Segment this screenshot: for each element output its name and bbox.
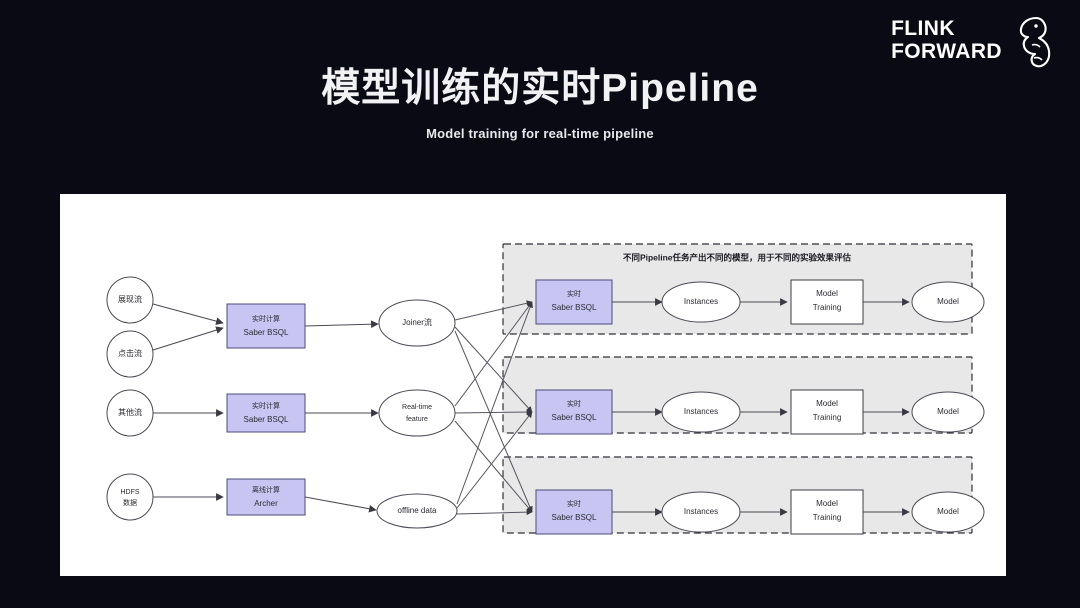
pipeline-1-saber-line1: 实时 [567, 289, 581, 298]
logo-wordmark: FLINK FORWARD [891, 18, 1002, 63]
squirrel-icon [1006, 14, 1052, 68]
pipeline-2-saber-line2: Saber BSQL [552, 413, 597, 422]
pipeline-1-model-label: Model [937, 297, 959, 306]
logo-line-1: FLINK [891, 18, 1002, 41]
pipeline-2-saber-line1: 实时 [567, 399, 581, 408]
compute-node-archer[interactable] [227, 479, 305, 515]
pipeline-3-saber-box[interactable] [536, 490, 612, 534]
stream-label-rtfeature-line2: feature [406, 416, 428, 423]
slide-root: FLINK FORWARD 模型训练的实时Pipeline Model trai… [0, 0, 1080, 608]
compute-label-saber-1-line1: 实时计算 [252, 314, 280, 323]
compute-node-saber-1[interactable] [227, 304, 305, 348]
pipeline-3-training-line1: Model [816, 499, 838, 508]
compute-label-archer-line2: Archer [254, 499, 278, 508]
pipeline-2-instances-label: Instances [684, 407, 718, 416]
compute-label-saber-2-line2: Saber BSQL [244, 415, 289, 424]
source-node-hdfs[interactable] [107, 474, 153, 520]
source-label-impression: 展现流 [118, 294, 142, 304]
pipeline-diagram: 不同Pipeline任务产出不同的模型，用于不同的实验效果评估 展现流 点击流 [60, 194, 1006, 576]
title-block: 模型训练的实时Pipeline Model training for real-… [0, 66, 1080, 141]
pipeline-2-training-line2: Training [813, 413, 842, 422]
pipeline-1-training-box[interactable] [791, 280, 863, 324]
compute-label-saber-1-line2: Saber BSQL [244, 328, 289, 337]
pipeline-3-training-line2: Training [813, 513, 842, 522]
pipeline-2-training-line1: Model [816, 399, 838, 408]
stream-label-offline-data: offline data [398, 506, 438, 515]
group-header-label: 不同Pipeline任务产出不同的模型，用于不同的实验效果评估 [623, 252, 852, 262]
compute-label-saber-2-line1: 实时计算 [252, 401, 280, 410]
pipeline-2-training-box[interactable] [791, 390, 863, 434]
source-label-hdfs-line1: HDFS [120, 489, 139, 496]
source-label-click: 点击流 [118, 348, 142, 358]
pipeline-1-saber-box[interactable] [536, 280, 612, 324]
pipeline-1-training-line2: Training [813, 303, 842, 312]
pipeline-3-instances-label: Instances [684, 507, 718, 516]
pipeline-2-model-label: Model [937, 407, 959, 416]
diagram-panel: 不同Pipeline任务产出不同的模型，用于不同的实验效果评估 展现流 点击流 [60, 194, 1006, 576]
edge-click-to-saber [153, 328, 223, 350]
pipeline-3-training-box[interactable] [791, 490, 863, 534]
pipeline-1-instances-label: Instances [684, 297, 718, 306]
edge-archer-to-offline [305, 497, 376, 510]
compute-label-archer-line1: 离线计算 [252, 485, 280, 494]
source-label-hdfs-line2: 数据 [123, 498, 137, 507]
pipeline-3-model-label: Model [937, 507, 959, 516]
source-label-other: 其他流 [118, 407, 142, 417]
stream-label-rtfeature-line1: Real-time [402, 404, 432, 411]
pipeline-3-saber-line2: Saber BSQL [552, 513, 597, 522]
logo-line-2: FORWARD [891, 41, 1002, 64]
stream-node-realtime-feature[interactable] [379, 390, 455, 436]
edge-impression-to-saber [153, 304, 223, 323]
stream-label-joiner: Joiner流 [402, 317, 432, 327]
pipeline-1-training-line1: Model [816, 289, 838, 298]
flink-forward-logo: FLINK FORWARD [891, 14, 1052, 68]
page-subtitle: Model training for real-time pipeline [0, 126, 1080, 141]
edge-saber1-to-joiner [305, 324, 378, 326]
compute-node-saber-2[interactable] [227, 394, 305, 432]
pipeline-3-saber-line1: 实时 [567, 499, 581, 508]
page-title: 模型训练的实时Pipeline [0, 66, 1080, 112]
pipeline-1-saber-line2: Saber BSQL [552, 303, 597, 312]
pipeline-2-saber-box[interactable] [536, 390, 612, 434]
